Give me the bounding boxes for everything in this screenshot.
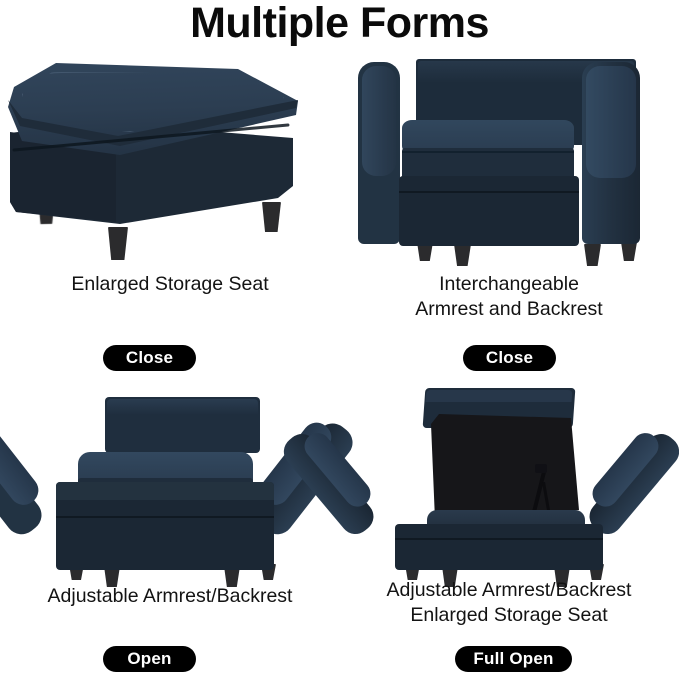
open-base-top-shade — [56, 482, 274, 500]
badge-label: Full Open — [473, 649, 553, 669]
caption-interchangeable-armrest-backrest: Interchangeable Armrest and Backrest — [339, 272, 679, 322]
product-image-armchair-arms-open — [0, 378, 340, 578]
caption-adjustable-armrest-backrest-enlarged-storage: Adjustable Armrest/Backrest Enlarged Sto… — [339, 578, 679, 628]
badge-label: Close — [486, 348, 533, 368]
badge-open: Open — [103, 646, 196, 672]
caption-line: Adjustable Armrest/Backrest — [339, 578, 679, 603]
caption-line: Interchangeable — [339, 272, 679, 297]
panel-interchangeable-armrest-backrest: Interchangeable Armrest and Backrest Clo… — [339, 48, 679, 378]
product-image-armchair-closed — [339, 48, 679, 263]
badge-full-open: Full Open — [455, 646, 572, 672]
open-base-seam — [56, 516, 274, 518]
armchair-leg-right — [621, 242, 637, 261]
armchair-leg-center-right — [584, 244, 601, 266]
armchair-leg-center-left — [454, 244, 471, 266]
infographic-page: Multiple Forms Enlarged Storage Seat — [0, 0, 679, 675]
panel-adjustable-armrest-backrest-enlarged-storage: Adjustable Armrest/Backrest Enlarged Sto… — [339, 378, 679, 675]
armchair-seat-seam — [402, 151, 574, 153]
badge-close-ottoman: Close — [103, 345, 196, 371]
armchair-base-seam — [399, 191, 579, 193]
badge-close-armchair: Close — [463, 345, 556, 371]
full-storage-hinge-bracket — [535, 464, 547, 473]
open-backrest-highlight — [107, 399, 258, 415]
caption-line: Enlarged Storage Seat — [339, 603, 679, 628]
caption-line: Armrest and Backrest — [339, 297, 679, 322]
panel-adjustable-armrest-backrest: Adjustable Armrest/Backrest Open — [0, 378, 340, 675]
caption-line: Enlarged Storage Seat — [0, 272, 340, 297]
ottoman-leg-front-right — [108, 227, 128, 260]
caption-adjustable-armrest-backrest: Adjustable Armrest/Backrest — [0, 584, 340, 609]
armchair-armrest-right-inner — [586, 66, 636, 178]
full-base-seam — [395, 538, 603, 540]
armchair-armrest-left-inner — [362, 66, 396, 176]
product-image-ottoman — [0, 48, 340, 263]
panel-enlarged-storage-seat: Enlarged Storage Seat Close — [0, 48, 340, 378]
caption-enlarged-storage-seat: Enlarged Storage Seat — [0, 272, 340, 297]
full-storage-lid-highlight — [426, 390, 573, 402]
full-base — [395, 524, 603, 570]
ottoman-leg-back-right — [262, 202, 281, 232]
armchair-base — [399, 176, 579, 246]
page-title: Multiple Forms — [0, 0, 679, 47]
caption-line: Adjustable Armrest/Backrest — [0, 584, 340, 609]
product-image-armchair-full-open-storage — [339, 378, 679, 578]
badge-label: Close — [126, 348, 173, 368]
badge-label: Open — [127, 649, 171, 669]
